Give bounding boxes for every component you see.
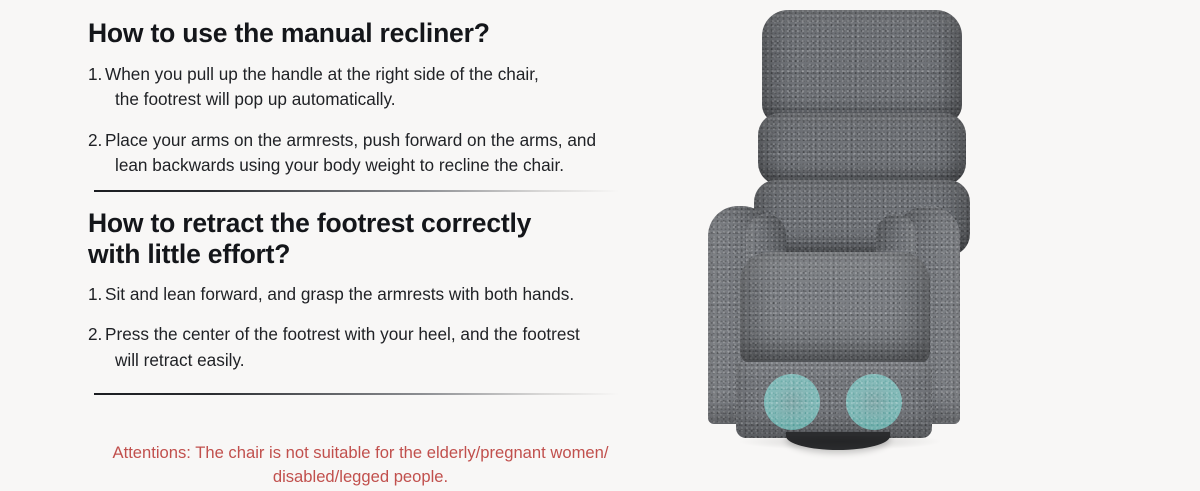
step-number: 1. [88,282,105,307]
front-skirt-panel [736,362,932,438]
massage-point-highlight-left [764,374,820,430]
steps-list-use: 1. When you pull up the handle at the ri… [88,62,648,179]
steps-list-retract: 1. Sit and lean forward, and grasp the a… [88,282,648,373]
step-text: Sit and lean forward, and grasp the armr… [105,282,648,307]
list-item: 2. Place your arms on the armrests, push… [88,128,648,179]
step-number: 1. [88,62,105,87]
list-item: 2. Press the center of the footrest with… [88,322,648,373]
section-divider [94,190,619,192]
recliner-chair-image [700,0,1200,491]
section-divider [94,393,619,395]
floor-shadow [740,436,940,450]
instruction-panel: How to use the manual recliner? 1. When … [0,0,1200,491]
seat-cushion [740,252,930,364]
step-text: Place your arms on the armrests, push fo… [105,128,648,179]
attention-notice: Attentions: The chair is not suitable fo… [88,441,633,491]
massage-point-highlight-right [846,374,902,430]
section-title-retract: How to retract the footrest correctly wi… [88,208,531,269]
instructions-column: How to use the manual recliner? 1. When … [0,0,700,491]
upper-back-cushion [758,113,966,185]
product-image-column [700,0,1200,491]
step-text: Press the center of the footrest with yo… [105,322,648,373]
page-title: How to use the manual recliner? [88,18,490,49]
list-item: 1. When you pull up the handle at the ri… [88,62,648,113]
list-item: 1. Sit and lean forward, and grasp the a… [88,282,648,307]
headrest-cushion [762,10,962,123]
step-number: 2. [88,322,105,347]
step-text: When you pull up the handle at the right… [105,62,648,113]
step-number: 2. [88,128,105,153]
